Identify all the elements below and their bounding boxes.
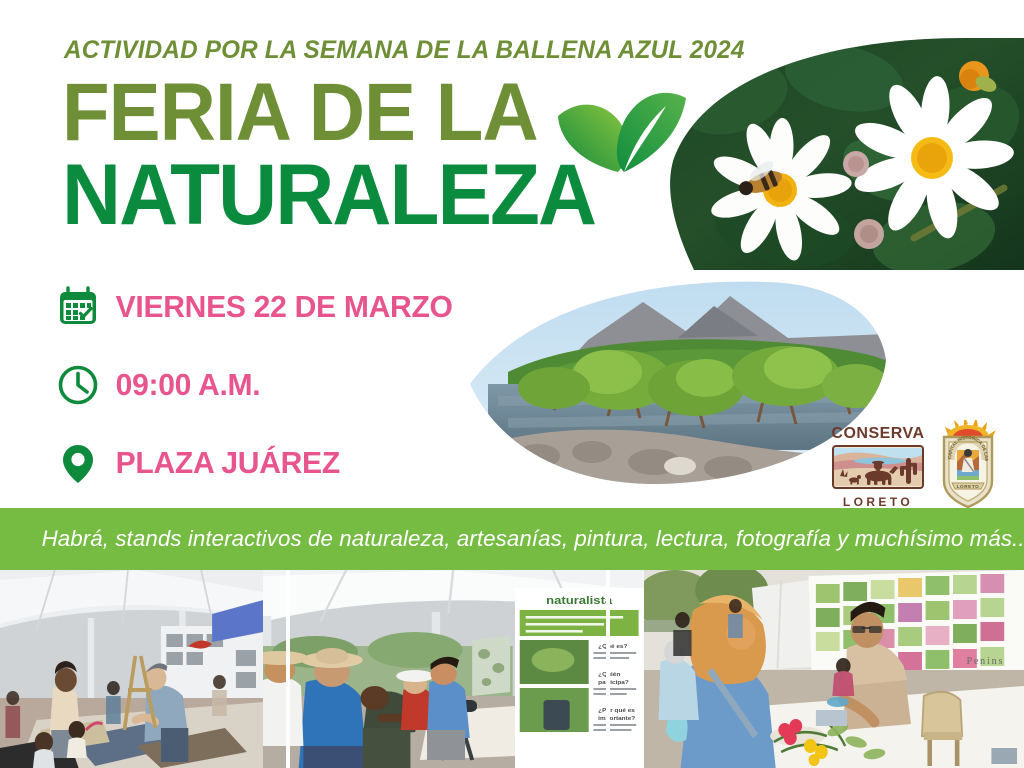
- photo-divider-2: [606, 570, 610, 768]
- poster-root: ACTIVIDAD POR LA SEMANA DE LA BALLENA AZ…: [0, 0, 1024, 768]
- page-title-line1: FERIA DE LA: [62, 72, 538, 154]
- shield-base-label: LORETO: [957, 484, 980, 489]
- svg-text:¿Qué es?: ¿Qué es?: [598, 644, 628, 649]
- event-details: VIERNES 22 DE MARZO 09:00 A.M. PLAZA JUÁ…: [52, 268, 482, 502]
- two-leaves-icon: [546, 72, 696, 200]
- conserva-label: CONSERVA: [831, 425, 924, 442]
- photo-divider-1: [286, 570, 290, 768]
- municipal-shield-logo: CAPITAL HISTORICA DE LAS CALIFORNIAS: [938, 420, 998, 510]
- detail-row-time: 09:00 A.M.: [52, 346, 482, 424]
- page-title-line2: NATURALEZA: [62, 152, 595, 238]
- calendar-icon: [52, 284, 104, 330]
- loreto-label: LORETO: [843, 495, 913, 509]
- svg-text:¿Por qué es: ¿Por qué es: [598, 708, 635, 713]
- naturalista-booth: naturalista ¿Qué es? ¿Quién participa? ¿…: [263, 570, 643, 768]
- detail-row-place: PLAZA JUÁREZ: [52, 424, 482, 502]
- detail-place-text: PLAZA JUÁREZ: [104, 445, 340, 481]
- svg-text:importante?: importante?: [598, 716, 635, 721]
- detail-row-date: VIERNES 22 DE MARZO: [52, 268, 482, 346]
- kicker-text: ACTIVIDAD POR LA SEMANA DE LA BALLENA AZ…: [64, 36, 745, 65]
- clock-icon: [52, 362, 104, 408]
- photo-exhibit-tent: [0, 570, 263, 768]
- naturalista-banner-label: naturalista: [546, 594, 612, 607]
- highlight-banner: Habrá, stands interactivos de naturaleza…: [0, 508, 1024, 570]
- svg-text:participa?: participa?: [598, 680, 629, 685]
- location-pin-icon: [52, 440, 104, 486]
- banner-text: Habrá, stands interactivos de naturaleza…: [0, 526, 1024, 552]
- mangrove-estuary-photo: [468, 276, 888, 488]
- detail-time-text: 09:00 A.M.: [104, 367, 260, 403]
- logo-group: CONSERVA: [828, 418, 1004, 510]
- photo-strip: naturalista ¿Qué es? ¿Quién participa? ¿…: [0, 570, 1024, 768]
- conserva-loreto-logo: CONSERVA: [828, 422, 928, 510]
- detail-date-text: VIERNES 22 DE MARZO: [104, 289, 453, 325]
- flora-poster-line1: Penins: [966, 656, 1004, 667]
- bee-on-white-daisies-photo: [664, 38, 1024, 270]
- flora-botany-table: Penins Baja Cali: [644, 570, 1024, 768]
